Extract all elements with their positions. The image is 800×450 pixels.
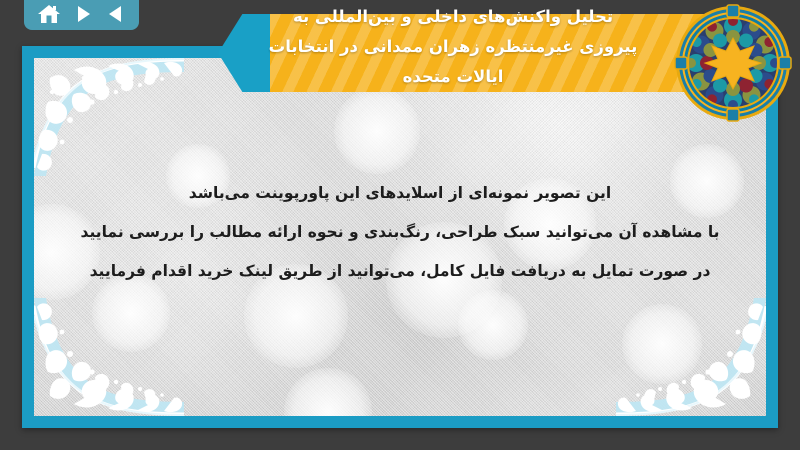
title-line: پیروزی غیرمنتظره زهران ممدانی در انتخابا… [218,32,688,62]
bokeh-circle [622,304,702,384]
slide-navigation [24,0,139,30]
triangle-right-icon[interactable] [72,3,94,25]
body-line: با مشاهده آن می‌توانید سبک طراحی، رنگ‌بن… [62,213,738,252]
title-line: تحلیل واکنش‌های داخلی و بین‌المللی به [218,2,688,32]
home-icon[interactable] [37,3,61,25]
slide-canvas: این تصویر نمونه‌ای از اسلایدهای این پاور… [0,0,800,450]
slide-title: تحلیل واکنش‌های داخلی و بین‌المللی به پی… [218,2,688,92]
title-line: ایالات متحده [218,62,688,92]
triangle-left-icon[interactable] [105,3,127,25]
body-line: این تصویر نمونه‌ای از اسلایدهای این پاور… [62,174,738,213]
persian-medallion-ornament [674,4,792,122]
slide-body-text: این تصویر نمونه‌ای از اسلایدهای این پاور… [62,174,738,291]
bokeh-circle [458,290,528,360]
body-line: در صورت تمایل به دریافت فایل کامل، می‌تو… [62,252,738,291]
bokeh-circle [284,368,372,416]
